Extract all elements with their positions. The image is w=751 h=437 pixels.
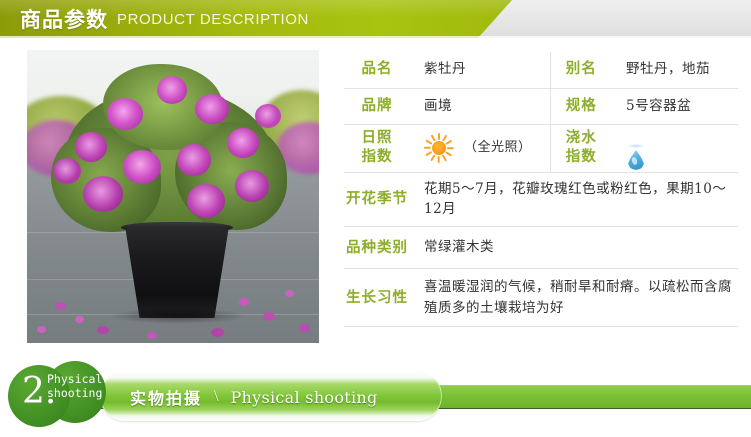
banner-text-group: 实物拍摄 \ Physical shooting [130, 384, 378, 410]
fallen-petal [75, 316, 84, 323]
page-title-en: PRODUCT DESCRIPTION [117, 11, 309, 28]
sunlight-value-group: （全光照） [424, 133, 546, 163]
spec-label-sunlight-line2: 指数 [344, 148, 410, 167]
spec-label-pinpai: 品牌 [344, 88, 410, 124]
flower-bloom [75, 132, 107, 162]
spec-label-growth-habit: 生长习性 [344, 269, 410, 327]
table-row: 日照 指数 [344, 124, 738, 172]
flower-bloom [235, 170, 269, 202]
page-title-cn: 商品参数 [20, 4, 108, 34]
fallen-petal [239, 298, 249, 306]
spec-value-bieming: 野牡丹，地茄 [612, 52, 738, 88]
spec-label-pinming: 品名 [344, 52, 410, 88]
fallen-petal [211, 328, 224, 337]
spec-value-pinming: 紫牡丹 [410, 52, 550, 88]
badge-step-label: Physical shooting [47, 372, 102, 401]
flower-bloom [195, 94, 229, 124]
spec-label-bieming: 别名 [550, 52, 612, 88]
fallen-petal [285, 290, 294, 297]
flower-bloom [107, 98, 143, 130]
table-row: 品名 紫牡丹 别名 野牡丹，地茄 [344, 52, 738, 88]
flower-bloom [137, 188, 181, 226]
spec-label-watering-index: 浇水 指数 [550, 124, 612, 172]
flower-bloom [157, 76, 187, 104]
spec-value-pinpai: 画境 [410, 88, 550, 124]
plant-canopy [45, 58, 289, 248]
flower-bloom [123, 150, 161, 184]
flower-bloom [83, 176, 123, 212]
spec-label-guige: 规格 [550, 88, 612, 124]
sunlight-note: （全光照） [464, 138, 532, 158]
section-banner-physical-shooting: 实物拍摄 \ Physical shooting 2. Physical sho… [0, 360, 751, 437]
spec-value-watering-index [612, 124, 738, 172]
flower-bloom [187, 184, 225, 218]
table-row: 生长习性 喜温暖湿润的气候，稍耐旱和耐瘠。以疏松而含腐殖质多的土壤栽培为好 [344, 269, 738, 327]
banner-separator: \ [214, 388, 218, 406]
spec-value-guige: 5号容器盆 [612, 88, 738, 124]
fallen-petal [299, 324, 310, 332]
spec-value-variety-category: 常绿灌木类 [410, 227, 738, 269]
product-photo [27, 50, 319, 343]
spec-label-watering-line1: 浇水 [551, 129, 613, 148]
flower-bloom [53, 158, 81, 184]
table-row: 品种类别 常绿灌木类 [344, 227, 738, 269]
table-row: 品牌 画境 规格 5号容器盆 [344, 88, 738, 124]
spec-value-sunlight-index: （全光照） [410, 124, 550, 172]
spec-label-sunlight-line1: 日照 [344, 129, 410, 148]
spec-value-growth-habit: 喜温暖湿润的气候，稍耐旱和耐瘠。以疏松而含腐殖质多的土壤栽培为好 [410, 269, 738, 327]
flower-bloom [255, 104, 281, 128]
badge-step-label-line1: Physical [47, 372, 102, 386]
spec-label-sunlight-index: 日照 指数 [344, 124, 410, 172]
sun-icon [424, 133, 454, 163]
fallen-petal [55, 302, 66, 310]
header-text-group: 商品参数 PRODUCT DESCRIPTION [20, 0, 309, 38]
table-row: 开花季节 花期5～7月，花瓣玫瑰红色或粉红色，果期10～12月 [344, 172, 738, 227]
spec-value-flowering-season: 花期5～7月，花瓣玫瑰红色或粉红色，果期10～12月 [410, 172, 738, 227]
spec-label-flowering-season: 开花季节 [344, 172, 410, 227]
product-spec-table: 品名 紫牡丹 别名 野牡丹，地茄 品牌 画境 规格 5号容器盆 日照 指数 [344, 52, 738, 327]
banner-title-en: Physical shooting [230, 388, 377, 407]
fallen-petal [263, 312, 275, 321]
spec-label-variety-category: 品种类别 [344, 227, 410, 269]
pot-shadow [109, 308, 247, 324]
flower-bloom [177, 144, 211, 176]
product-description-page: 商品参数 PRODUCT DESCRIPTION [0, 0, 751, 437]
fallen-petal [37, 326, 46, 333]
fallen-petal [147, 332, 157, 339]
spec-label-watering-line2: 指数 [551, 148, 613, 167]
nursery-pot [125, 226, 229, 318]
flower-bloom [227, 128, 259, 158]
badge-step-label-line2: shooting [47, 386, 102, 400]
section-header: 商品参数 PRODUCT DESCRIPTION [0, 0, 751, 38]
fallen-petal [97, 326, 109, 334]
banner-title-cn: 实物拍摄 [130, 385, 202, 409]
